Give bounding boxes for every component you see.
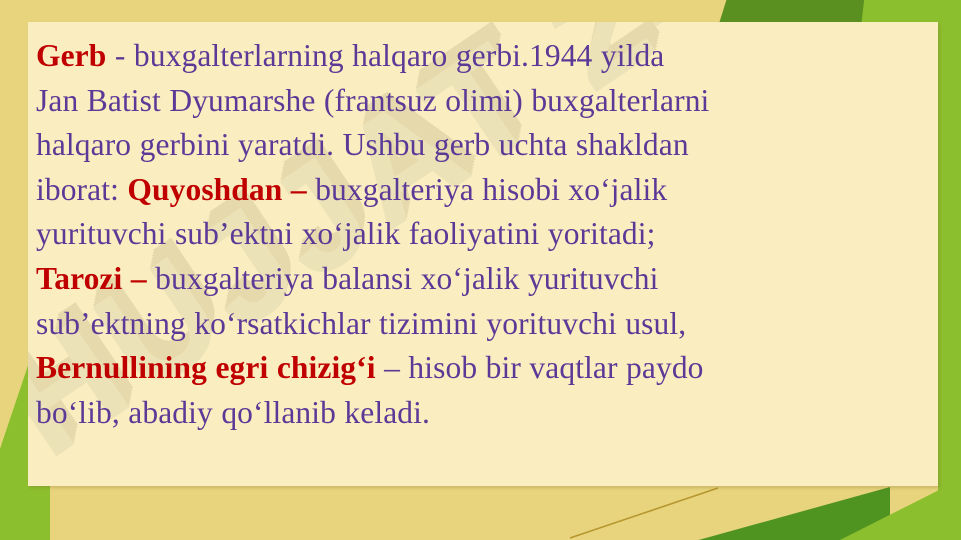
line-7: sub’ektning ko‘rsatkichlar tizimini yori… [36,302,932,347]
body-text-run: Jan Batist Dyumarshe (frantsuz olimi) bu… [36,83,709,118]
line-8: Bernullining egri chizig‘i – hisob bir v… [36,346,932,391]
content-panel: HUJJAT 24 [28,22,938,486]
body-text-run: – hisob bir vaqtlar paydo [376,350,704,385]
body-text-run: - buxgalterlarning halqaro gerbi.1944 yi… [106,38,664,73]
keyword-term: Quyoshdan – [127,172,306,207]
decoration-right-green-strip [938,0,961,540]
body-text-run: yurituvchi sub’ektni xo‘jalik faoliyatin… [36,216,655,251]
line-6: Tarozi – buxgalteriya balansi xo‘jalik y… [36,257,932,302]
keyword-term: Bernullining egri chizig‘i [36,350,376,385]
line-1: Gerb - buxgalterlarning halqaro gerbi.19… [36,34,932,79]
decoration-bottom-right-light-green-triangle [770,487,945,540]
decoration-bottom-right-dark-green-triangle [560,487,890,540]
body-text-run: sub’ektning ko‘rsatkichlar tizimini yori… [36,306,686,341]
presentation-slide: HUJJAT 24 [0,0,961,540]
line-5: yurituvchi sub’ektni xo‘jalik faoliyatin… [36,212,932,257]
body-text-run: buxgalteriya balansi xo‘jalik yurituvchi [147,261,659,296]
body-text-run: buxgalteriya hisobi xo‘jalik [307,172,667,207]
slide-body-text: Gerb - buxgalterlarning halqaro gerbi.19… [36,34,932,435]
body-text-run: bo‘lib, abadiy qo‘llanib keladi. [36,395,430,430]
line-4: iborat: Quyoshdan – buxgalteriya hisobi … [36,168,932,213]
line-3: halqaro gerbini yaratdi. Ushbu gerb ucht… [36,123,932,168]
keyword-term: Gerb [36,38,106,73]
line-2: Jan Batist Dyumarshe (frantsuz olimi) bu… [36,79,932,124]
body-text-run: iborat: [36,172,127,207]
keyword-term: Tarozi – [36,261,147,296]
decoration-diagonal-accent-line [568,486,720,540]
line-9: bo‘lib, abadiy qo‘llanib keladi. [36,391,932,436]
body-text-run: halqaro gerbini yaratdi. Ushbu gerb ucht… [36,127,689,162]
